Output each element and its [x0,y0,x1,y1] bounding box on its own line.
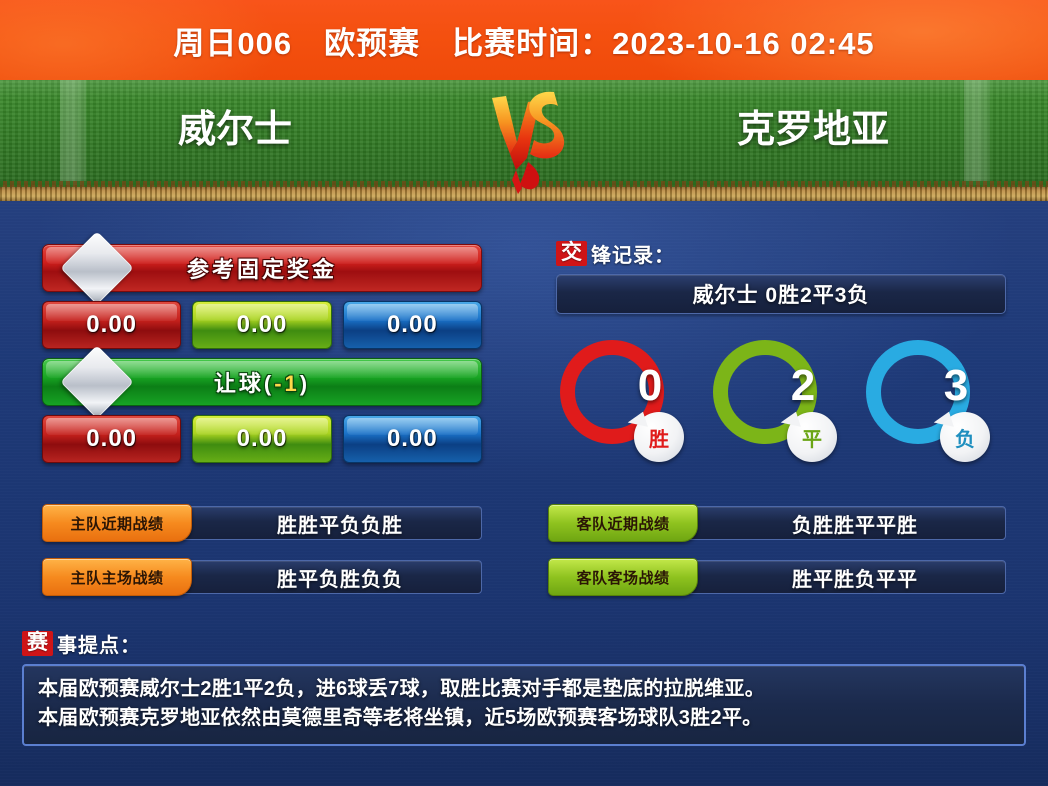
vs-icon [470,84,580,194]
form-value-home-recent: 胜胜平负负胜 [217,509,403,538]
form-bar-away-away: 胜平胜负平平 [644,560,1006,594]
handicap-label: 让球(-1) [214,366,310,398]
fixed-bonus-odds-row: 0.00 0.00 0.00 [42,301,482,349]
odds-value: 0.00 [86,425,137,453]
handicap-suffix: ) [300,371,310,396]
h2h-title-rest: 锋记录： [591,239,675,268]
diamond-icon [60,345,134,419]
h2h-summary-bar: 威尔士 0胜2平3负 [556,274,1006,314]
form-value-away-recent: 负胜胜平平胜 [732,509,918,538]
handicap-cell-win[interactable]: 0.00 [42,415,181,463]
form-tag-away-away: 客队客场战绩 [548,558,698,596]
odds-value: 0.00 [237,425,288,453]
handicap-cell-lose[interactable]: 0.00 [343,415,482,463]
odds-cell-lose[interactable]: 0.00 [343,301,482,349]
match-preview-graphic: 周日006 欧预赛 比赛时间：2023-10-16 02:45 威尔士 克罗地亚 [0,0,1048,786]
ring-badge-label: 胜 [649,423,669,452]
handicap-cell-draw[interactable]: 0.00 [192,415,331,463]
h2h-ring-win: 0 胜 [560,340,690,475]
form-row-away-recent: 客队近期战绩 负胜胜平平胜 [548,504,1006,540]
handicap-prefix: 让球( [214,371,274,396]
notes-title-badge: 赛 [22,631,53,656]
odds-value: 0.00 [237,311,288,339]
ring-value: 3 [926,364,986,408]
handicap-value: -1 [274,371,300,396]
fixed-bonus-label: 参考固定奖金 [187,252,337,284]
header-title: 周日006 欧预赛 比赛时间：2023-10-16 02:45 [173,18,874,63]
h2h-section: 交 锋记录： 威尔士 0胜2平3负 [556,238,1006,314]
notes-title-rest: 事提点： [57,629,141,658]
form-row-home-recent: 主队近期战绩 胜胜平负负胜 [42,504,482,540]
h2h-ring-draw: 2 平 [713,340,843,475]
odds-cell-win[interactable]: 0.00 [42,301,181,349]
form-tag-home-recent: 主队近期战绩 [42,504,192,542]
odds-value: 0.00 [387,425,438,453]
form-row-away-away: 客队客场战绩 胜平胜负平平 [548,558,1006,594]
form-tag-home-home: 主队主场战绩 [42,558,192,596]
ring-badge-label: 负 [955,423,975,452]
form-bar-away-recent: 负胜胜平平胜 [644,506,1006,540]
fixed-bonus-header: 参考固定奖金 [42,244,482,292]
away-team-name: 克罗地亚 [578,98,1048,153]
ring-badge-draw: 平 [787,412,837,462]
form-row-home-home: 主队主场战绩 胜平负胜负负 [42,558,482,594]
odds-value: 0.00 [86,311,137,339]
form-value-home-home: 胜平负胜负负 [217,563,403,592]
ring-badge-label: 平 [802,423,822,452]
header-bar: 周日006 欧预赛 比赛时间：2023-10-16 02:45 [0,0,1048,80]
handicap-header: 让球(-1) [42,358,482,406]
notes-box: 本届欧预赛威尔士2胜1平2负，进6球丢7球，取胜比赛对手都是垫底的拉脱维亚。 本… [22,664,1026,746]
odds-cell-draw[interactable]: 0.00 [192,301,331,349]
notes-section: 赛 事提点： 本届欧预赛威尔士2胜1平2负，进6球丢7球，取胜比赛对手都是垫底的… [22,628,1026,746]
h2h-title-badge: 交 [556,241,587,266]
ring-value: 0 [620,364,680,408]
odds-value: 0.00 [387,311,438,339]
h2h-rings: 0 胜 2 平 3 负 [548,340,1018,475]
form-value-away-away: 胜平胜负平平 [732,563,918,592]
ring-value: 2 [773,364,833,408]
handicap-odds-row: 0.00 0.00 0.00 [42,415,482,463]
h2h-summary-text: 威尔士 0胜2平3负 [693,279,870,309]
notes-line: 本届欧预赛威尔士2胜1平2负，进6球丢7球，取胜比赛对手都是垫底的拉脱维亚。 [38,675,1010,704]
h2h-ring-lose: 3 负 [866,340,996,475]
h2h-title: 交 锋记录： [556,238,1006,268]
ring-badge-lose: 负 [940,412,990,462]
home-team-name: 威尔士 [0,98,470,153]
form-tag-away-recent: 客队近期战绩 [548,504,698,542]
notes-title: 赛 事提点： [22,628,1026,658]
odds-panel: 参考固定奖金 0.00 0.00 0.00 让球(-1) 0 [42,244,482,472]
notes-line: 本届欧预赛克罗地亚依然由莫德里奇等老将坐镇，近5场欧预赛客场球队3胜2平。 [38,704,1010,733]
ring-badge-win: 胜 [634,412,684,462]
